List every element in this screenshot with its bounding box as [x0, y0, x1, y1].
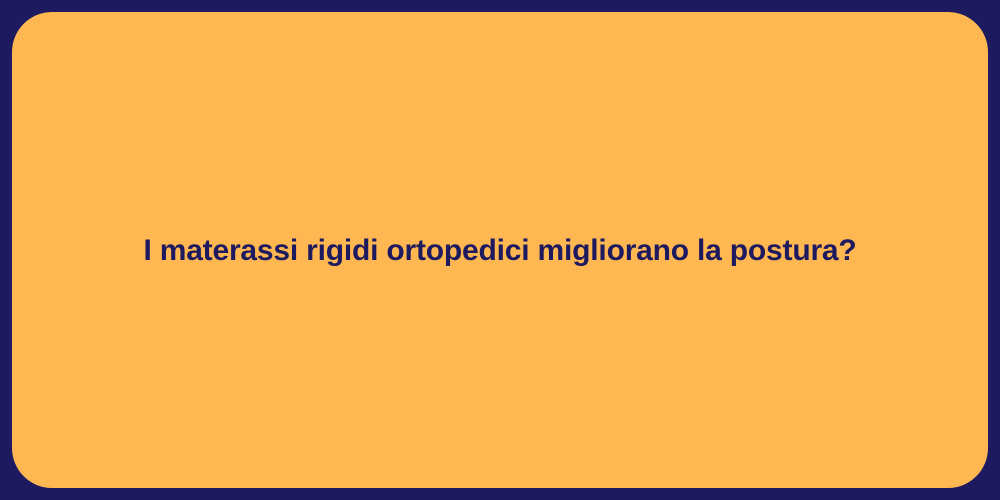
card-headline: I materassi rigidi ortopedici migliorano…: [143, 231, 856, 270]
headline-container: I materassi rigidi ortopedici migliorano…: [12, 231, 988, 270]
card-inner-panel: I materassi rigidi ortopedici migliorano…: [12, 12, 988, 488]
screenshot-root: I materassi rigidi ortopedici migliorano…: [0, 0, 1000, 500]
card-outer-frame: I materassi rigidi ortopedici migliorano…: [0, 0, 1000, 500]
